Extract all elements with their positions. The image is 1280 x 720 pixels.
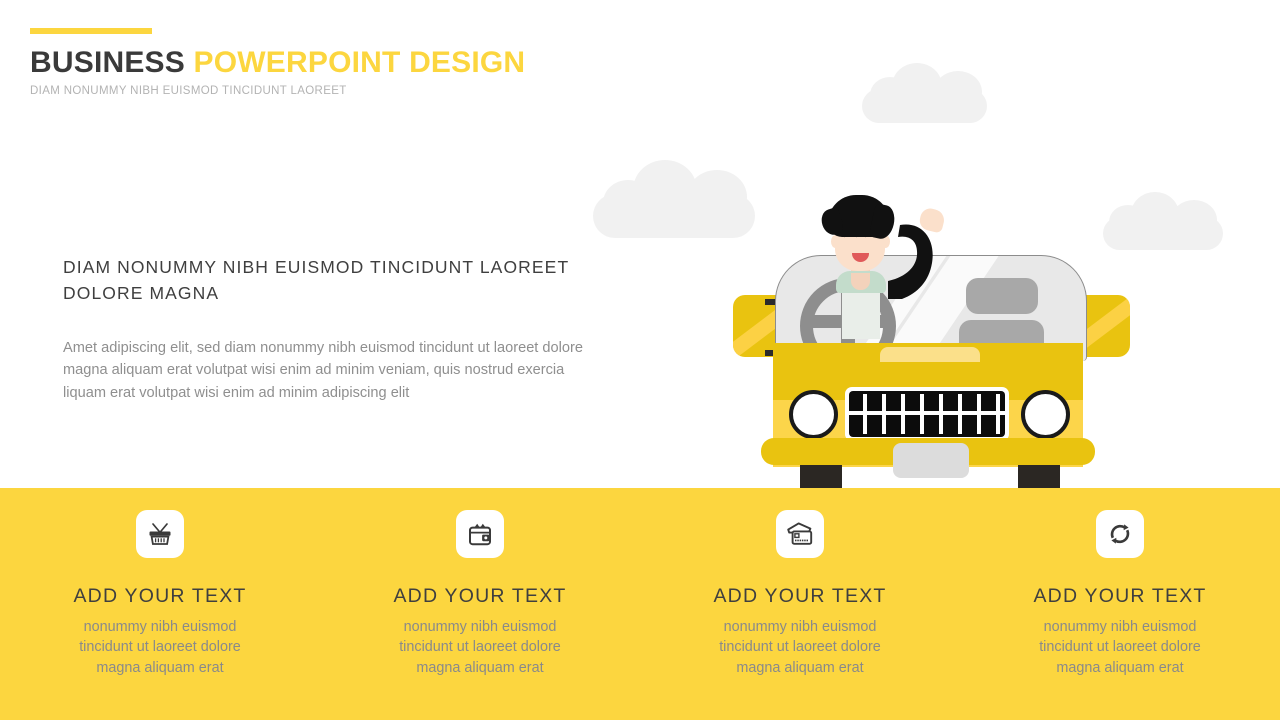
shopping-basket-icon[interactable] xyxy=(136,510,184,558)
headlight-right-icon xyxy=(1021,390,1070,439)
wallet-icon[interactable] xyxy=(456,510,504,558)
headlight-left-icon xyxy=(789,390,838,439)
feature-card-title: ADD YOUR TEXT xyxy=(73,585,246,608)
feature-card-description: nonummy nibh euismod tincidunt ut laoree… xyxy=(1018,617,1223,678)
license-plate xyxy=(893,443,969,478)
feature-card-title: ADD YOUR TEXT xyxy=(1033,585,1206,608)
feature-band: ADD YOUR TEXT nonummy nibh euismod tinci… xyxy=(0,488,1280,720)
feature-card-title: ADD YOUR TEXT xyxy=(393,585,566,608)
car-grille xyxy=(845,387,1009,441)
credit-cards-icon[interactable] xyxy=(776,510,824,558)
feature-card-description: nonummy nibh euismod tincidunt ut laoree… xyxy=(698,617,903,678)
driver-collar-notch xyxy=(851,273,870,290)
feature-card-4[interactable]: ADD YOUR TEXT nonummy nibh euismod tinci… xyxy=(960,510,1280,720)
feature-card-1[interactable]: ADD YOUR TEXT nonummy nibh euismod tinci… xyxy=(0,510,320,720)
feature-card-list: ADD YOUR TEXT nonummy nibh euismod tinci… xyxy=(0,488,1280,720)
feature-card-description: nonummy nibh euismod tincidunt ut laoree… xyxy=(378,617,583,678)
car-hood-strip xyxy=(880,347,980,362)
feature-card-title: ADD YOUR TEXT xyxy=(713,585,886,608)
feature-card-2[interactable]: ADD YOUR TEXT nonummy nibh euismod tinci… xyxy=(320,510,640,720)
driver-torso xyxy=(842,287,880,339)
refresh-sync-icon[interactable] xyxy=(1096,510,1144,558)
feature-card-description: nonummy nibh euismod tincidunt ut laoree… xyxy=(58,617,263,678)
feature-card-3[interactable]: ADD YOUR TEXT nonummy nibh euismod tinci… xyxy=(640,510,960,720)
car-illustration xyxy=(725,195,1135,490)
driver-character xyxy=(820,195,960,315)
cloud-top-right xyxy=(862,63,987,123)
